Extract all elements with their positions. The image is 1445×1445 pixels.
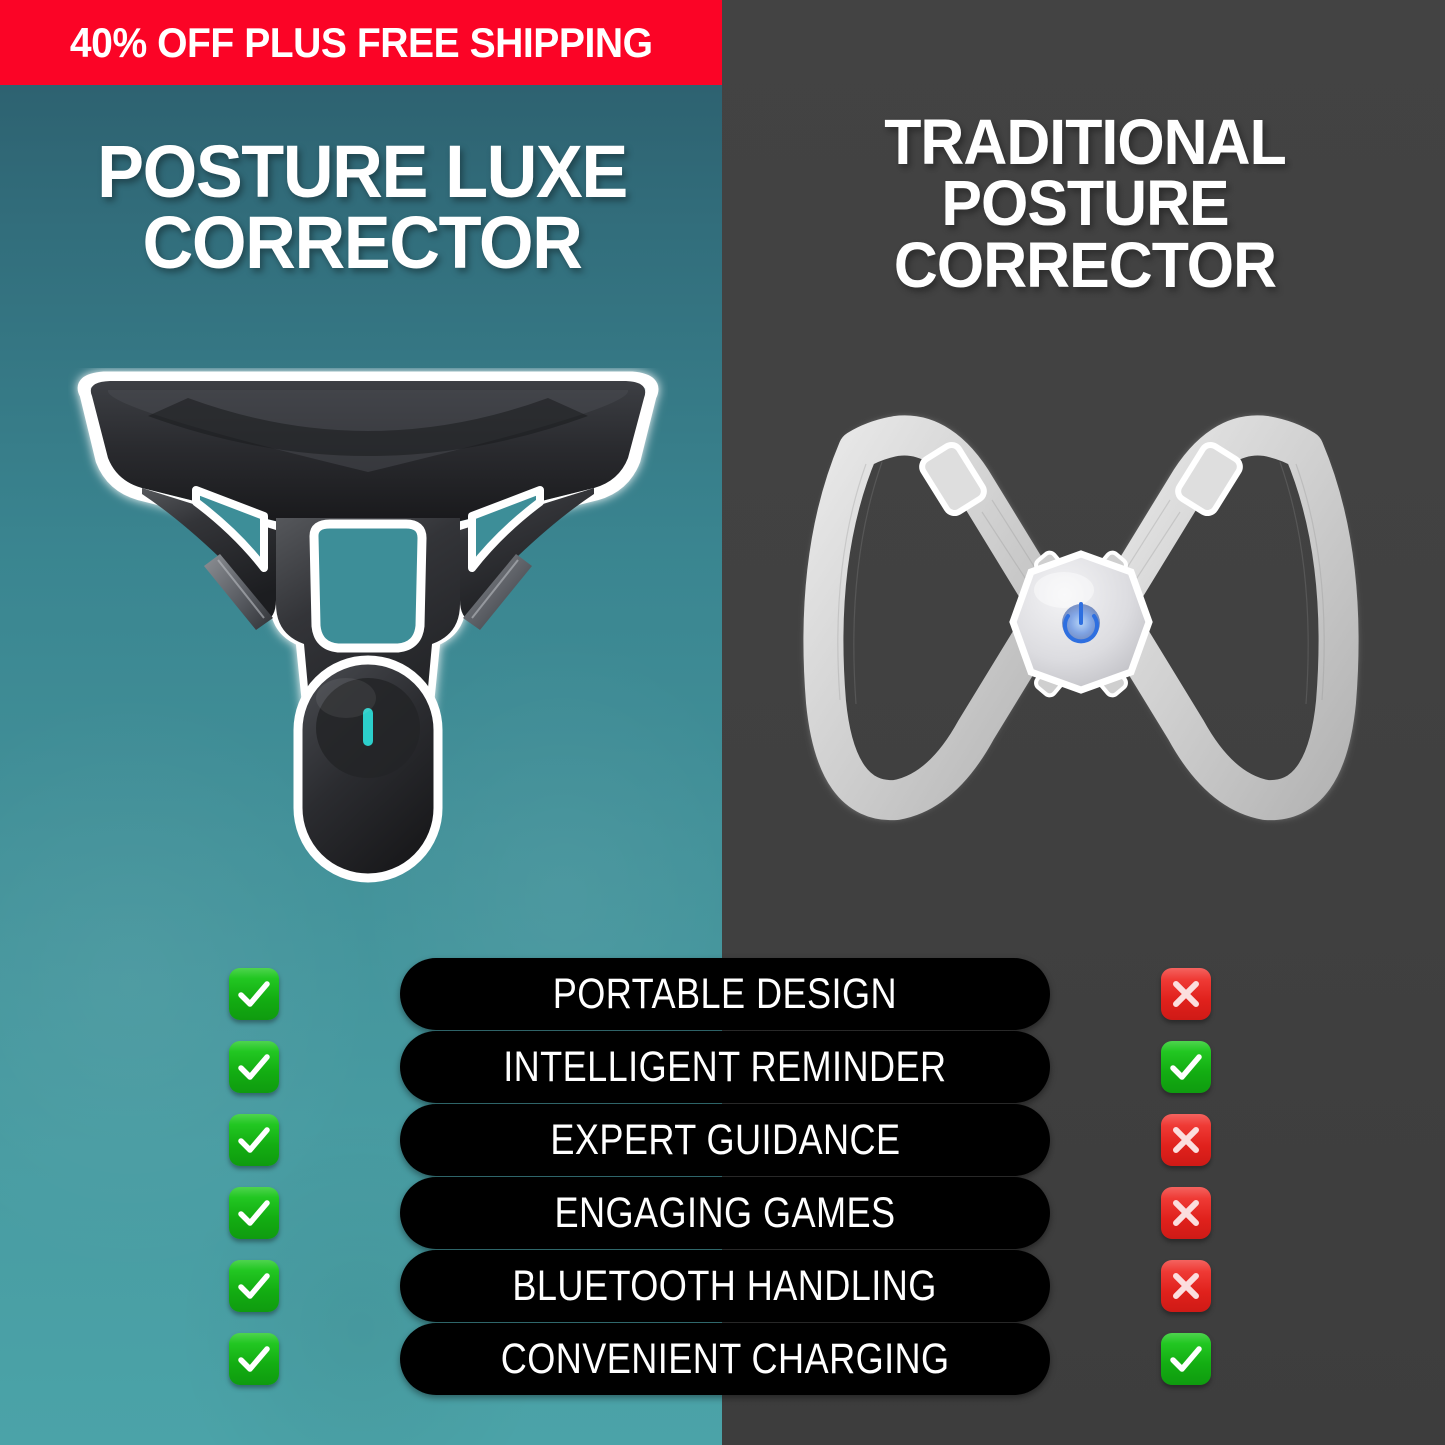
table-row: EXPERT GUIDANCE: [0, 1104, 1445, 1176]
check-icon: [234, 974, 274, 1014]
cross-icon: [1166, 1193, 1206, 1233]
right-status-badge-no: [1161, 1260, 1211, 1312]
right-status-badge-no: [1161, 968, 1211, 1020]
feature-label: PORTABLE DESIGN: [553, 973, 897, 1016]
cross-icon: [1166, 1120, 1206, 1160]
check-icon: [234, 1120, 274, 1160]
traditional-strap-image: [796, 404, 1366, 874]
right-title-line-3: CORRECTOR: [757, 235, 1413, 296]
check-icon: [234, 1339, 274, 1379]
feature-label: CONVENIENT CHARGING: [501, 1338, 950, 1381]
feature-pill: ENGAGING GAMES: [400, 1177, 1050, 1249]
comparison-infographic: 40% OFF PLUS FREE SHIPPING POSTURE LUXE …: [0, 0, 1445, 1445]
left-product-title: POSTURE LUXE CORRECTOR: [30, 136, 695, 278]
check-icon: [1166, 1047, 1206, 1087]
right-product-title: TRADITIONAL POSTURE CORRECTOR: [757, 112, 1413, 296]
left-title-line-2: CORRECTOR: [30, 207, 695, 278]
check-icon: [1166, 1339, 1206, 1379]
cross-icon: [1166, 974, 1206, 1014]
check-icon: [234, 1266, 274, 1306]
feature-pill: EXPERT GUIDANCE: [400, 1104, 1050, 1176]
feature-pill: CONVENIENT CHARGING: [400, 1323, 1050, 1395]
feature-pill: INTELLIGENT REMINDER: [400, 1031, 1050, 1103]
right-title-line-1: TRADITIONAL: [757, 112, 1413, 173]
right-status-badge-yes: [1161, 1333, 1211, 1385]
table-row: PORTABLE DESIGN: [0, 958, 1445, 1030]
table-row: ENGAGING GAMES: [0, 1177, 1445, 1249]
feature-label: EXPERT GUIDANCE: [550, 1119, 900, 1162]
left-status-badge-yes: [229, 1333, 279, 1385]
table-row: CONVENIENT CHARGING: [0, 1323, 1445, 1395]
feature-label: ENGAGING GAMES: [554, 1192, 895, 1235]
right-status-badge-no: [1161, 1114, 1211, 1166]
promo-banner: 40% OFF PLUS FREE SHIPPING: [0, 0, 722, 85]
left-status-badge-yes: [229, 1187, 279, 1239]
cross-icon: [1166, 1266, 1206, 1306]
check-icon: [234, 1047, 274, 1087]
table-row: INTELLIGENT REMINDER: [0, 1031, 1445, 1103]
feature-pill: BLUETOOTH HANDLING: [400, 1250, 1050, 1322]
feature-pill: PORTABLE DESIGN: [400, 958, 1050, 1030]
right-status-badge-yes: [1161, 1041, 1211, 1093]
left-title-line-1: POSTURE LUXE: [30, 136, 695, 207]
posture-luxe-device-image: [68, 368, 668, 908]
right-status-badge-no: [1161, 1187, 1211, 1239]
table-row: BLUETOOTH HANDLING: [0, 1250, 1445, 1322]
right-title-line-2: POSTURE: [757, 173, 1413, 234]
check-icon: [234, 1193, 274, 1233]
feature-comparison-list: PORTABLE DESIGN INTELLIGENT REMINDER: [0, 958, 1445, 1396]
feature-label: INTELLIGENT REMINDER: [503, 1046, 946, 1089]
feature-label: BLUETOOTH HANDLING: [513, 1265, 937, 1308]
left-status-badge-yes: [229, 1114, 279, 1166]
promo-banner-text: 40% OFF PLUS FREE SHIPPING: [70, 22, 653, 64]
left-status-badge-yes: [229, 1260, 279, 1312]
left-status-badge-yes: [229, 968, 279, 1020]
left-status-badge-yes: [229, 1041, 279, 1093]
